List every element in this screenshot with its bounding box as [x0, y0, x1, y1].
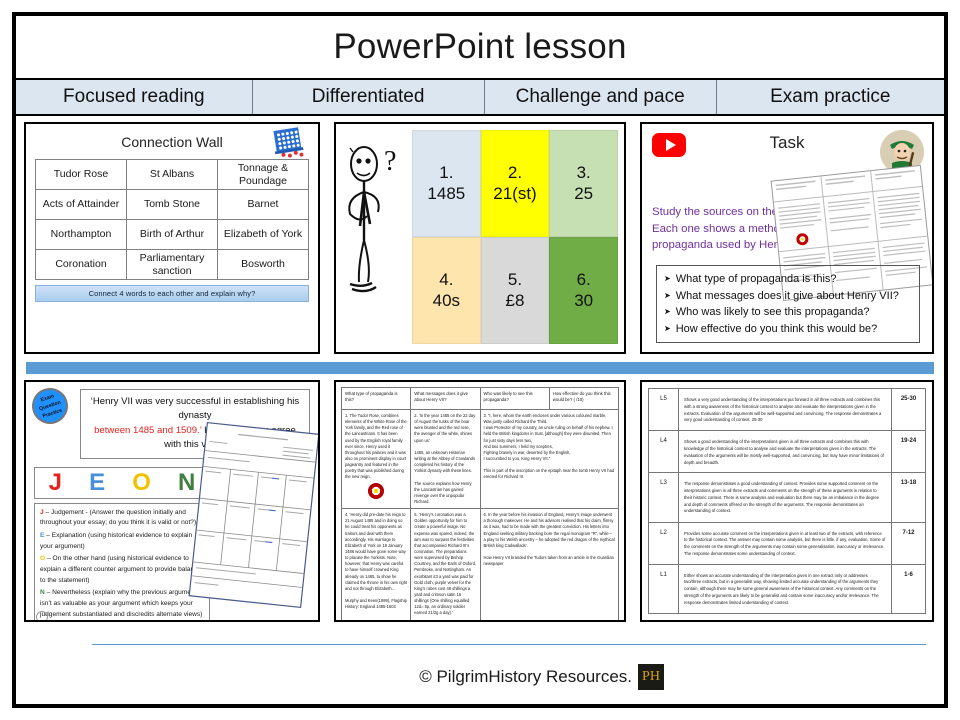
slide-frame: PowerPoint lesson Focused reading Differ…	[12, 12, 948, 708]
task-question: What messages does it give about Henry V…	[664, 288, 912, 305]
tab-exam-practice[interactable]: Exam practice	[717, 80, 944, 114]
source-header: How effective do you think this would be…	[549, 388, 618, 410]
panel-sources-table[interactable]: What type of propaganda is this? What me…	[334, 380, 626, 622]
source-cell-3: 3. “I, here, whom the earth encloses und…	[480, 410, 619, 509]
task-question: How effective do you think this would be…	[664, 321, 912, 338]
table-row: Coronation Parliamentary sanction Boswor…	[36, 250, 309, 280]
wall-cell[interactable]: Tonnage & Poundage	[218, 160, 309, 190]
jeon-explanations: J – Judgement - (Answer the question ini…	[34, 503, 210, 622]
mark-range: 13-18	[892, 473, 926, 522]
youtube-play-icon[interactable]	[652, 133, 686, 157]
grid-cell-3[interactable]: 3. 25	[549, 130, 618, 237]
jeon-point-text: – Judgement - (Answer the question initi…	[40, 509, 196, 527]
source-cell-4: 4. ‘Henry did pre-date his reign to 21 A…	[342, 509, 411, 622]
grid-cell-6[interactable]: 6. 30	[549, 237, 618, 344]
source-cell-6: 6. In the year before his invasion of En…	[480, 509, 619, 622]
source-cell-2: 2. ‘In the year 1485 on the 22 day of Au…	[411, 410, 480, 509]
jeon-letter-n: N	[178, 469, 195, 497]
jeon-letters: J E O N	[34, 467, 210, 499]
grid-cell-4[interactable]: 4. 40s	[412, 237, 481, 344]
source-cell-1: 1. The Tudor Rose, combines elements of …	[342, 410, 411, 509]
wall-cell[interactable]: Barnet	[218, 190, 309, 220]
level-description: Either shows an accurate understanding o…	[679, 564, 892, 613]
number-grid: 1. 1485 2. 21(st) 3. 25 4.	[412, 130, 618, 344]
wall-cell[interactable]: Tudor Rose	[36, 160, 127, 190]
wall-cell[interactable]: Acts of Attainder	[36, 190, 127, 220]
connection-wall-title: Connection Wall	[121, 134, 222, 150]
slide-footer: © PilgrimHistory Resources. PH	[16, 642, 944, 706]
table-row: L4 Shows a good understanding of the int…	[649, 431, 926, 473]
jeon-planning-sheet-thumbnail	[187, 420, 320, 609]
thumbnail-row-top: Connection Wall	[24, 122, 936, 354]
slide-body: Connection Wall	[16, 116, 944, 706]
level-label: L3	[649, 473, 679, 522]
wall-cell[interactable]: Bosworth	[218, 250, 309, 280]
panel-jeon[interactable]: Exam Question Practice ‘Henry VII was ve…	[24, 380, 320, 622]
tab-focused-reading[interactable]: Focused reading	[16, 80, 253, 114]
source-text: 1. The Tudor Rose, combines elements of …	[345, 413, 407, 479]
source-cell-5: 5. ‘Henry’s coronation was a Golden oppo…	[411, 509, 480, 622]
level-description: Shows a good understanding of the interp…	[679, 431, 892, 473]
title-bar: PowerPoint lesson	[16, 16, 944, 80]
pilgrim-history-logo: PH	[638, 664, 664, 690]
jeon-point-e: E – Explanation (using historical eviden…	[40, 531, 204, 552]
page-marker-icon	[36, 611, 48, 622]
mark-range: 25-30	[892, 389, 926, 431]
grid-cell-value: 21(st)	[493, 184, 536, 204]
panel-connection-wall[interactable]: Connection Wall	[24, 122, 320, 354]
markscheme-table: L5 Shows a very good understanding of th…	[648, 388, 926, 614]
exam-question-dates: between 1485 and 1509.’	[94, 425, 201, 436]
table-row: L1 Either shows an accurate understandin…	[649, 564, 926, 613]
level-label: L4	[649, 431, 679, 473]
level-description: Provides some accurate comment on the in…	[679, 522, 892, 564]
source-header: What messages does it give about Henry V…	[411, 388, 480, 410]
thumbnail-row-bottom: Exam Question Practice ‘Henry VII was ve…	[24, 380, 936, 622]
table-row: L3 The response demonstrates a good unde…	[649, 473, 926, 522]
table-row: Northampton Birth of Arthur Elizabeth of…	[36, 220, 309, 250]
tab-differentiated[interactable]: Differentiated	[253, 80, 485, 114]
jeon-point-j: J – Judgement - (Answer the question ini…	[40, 508, 204, 529]
wall-cell[interactable]: Parliamentary sanction	[127, 250, 218, 280]
grid-cell-number: 5.	[508, 270, 522, 290]
jeon-letter-j: J	[49, 469, 62, 497]
task-question: What type of propaganda is this?	[664, 271, 912, 288]
table-row: Acts of Attainder Tomb Stone Barnet	[36, 190, 309, 220]
thinking-stick-figure-icon: ?	[340, 130, 412, 344]
page-title: PowerPoint lesson	[333, 27, 626, 67]
jeon-point-o: O – On the other hand (using historical …	[40, 554, 204, 586]
panel-task[interactable]: Task Study the sources on the sheet.	[640, 122, 934, 354]
grid-cell-5[interactable]: 5. £8	[481, 237, 550, 344]
svg-text:?: ?	[384, 146, 396, 177]
task-question: Who was likely to see this propaganda?	[664, 304, 912, 321]
grid-cell-value: £8	[506, 291, 525, 311]
grid-cell-value: 1485	[427, 184, 465, 204]
level-label: L1	[649, 564, 679, 613]
panel-markscheme[interactable]: L5 Shows a very good understanding of th…	[640, 380, 934, 622]
exam-question-part1: ‘Henry VII was very successful in establ…	[91, 396, 299, 421]
grid-cell-number: 4.	[439, 270, 453, 290]
task-question-list: What type of propaganda is this? What me…	[656, 265, 920, 343]
level-description: Shows a very good understanding of the i…	[679, 389, 892, 431]
table-row: 1. The Tudor Rose, combines elements of …	[342, 410, 619, 509]
table-row: L5 Shows a very good understanding of th…	[649, 389, 926, 431]
source-header: What type of propaganda is this?	[342, 388, 411, 410]
grid-cell-value: 25	[574, 184, 593, 204]
mark-range: 19-24	[892, 431, 926, 473]
mark-range: 1-6	[892, 564, 926, 613]
connection-wall-table: Tudor Rose St Albans Tonnage & Poundage …	[35, 159, 309, 280]
grid-cell-value: 30	[574, 291, 593, 311]
grid-cell-1[interactable]: 1. 1485	[412, 130, 481, 237]
jeon-letter-e: E	[89, 469, 105, 497]
table-header-row: What type of propaganda is this? What me…	[342, 388, 619, 410]
sources-table: What type of propaganda is this? What me…	[341, 387, 619, 622]
connection-wall-header: Connection Wall	[35, 131, 309, 155]
table-row: Tudor Rose St Albans Tonnage & Poundage	[36, 160, 309, 190]
source-header: Who was likely to see this propaganda?	[480, 388, 549, 410]
jeon-point-text: – Explanation (using historical evidence…	[40, 532, 192, 550]
grid-cell-number: 2.	[508, 163, 522, 183]
jeon-point-n: N – Nevertheless (explain why the previo…	[40, 588, 204, 620]
wall-cell[interactable]: Birth of Arthur	[127, 220, 218, 250]
table-row: 4. ‘Henry did pre-date his reign to 21 A…	[342, 509, 619, 622]
wall-cell[interactable]: St Albans	[127, 160, 218, 190]
wall-cell[interactable]: Northampton	[36, 220, 127, 250]
jeon-letter-o: O	[132, 469, 151, 497]
level-label: L2	[649, 522, 679, 564]
grid-cell-number: 6.	[577, 270, 591, 290]
jeon-point-text: – Nevertheless (explain why the previous…	[40, 589, 202, 617]
panel-number-grid[interactable]: ? 1. 1485	[334, 122, 626, 354]
footer-rule	[92, 644, 926, 645]
copyright-credit: © PilgrimHistory Resources. PH	[419, 664, 664, 690]
wall-cell[interactable]: Coronation	[36, 250, 127, 280]
table-row: L2 Provides some accurate comment on the…	[649, 522, 926, 564]
grid-cell-number: 3.	[577, 163, 591, 183]
section-divider	[26, 362, 934, 374]
tudor-rose-icon	[368, 483, 384, 499]
level-description: The response demonstrates a good underst…	[679, 473, 892, 522]
copyright-text: © PilgrimHistory Resources.	[419, 667, 632, 687]
connection-wall-instruction: Connect 4 words to each other and explai…	[35, 285, 309, 302]
jeon-point-text: – On the other hand (using historical ev…	[40, 555, 201, 583]
exam-question-practice-badge: Exam Question Practice	[27, 383, 72, 428]
tab-challenge-and-pace[interactable]: Challenge and pace	[485, 80, 717, 114]
grid-cell-value: 40s	[433, 291, 460, 311]
tab-bar: Focused reading Differentiated Challenge…	[16, 80, 944, 116]
mark-range: 7-12	[892, 522, 926, 564]
wall-cell[interactable]: Elizabeth of York	[218, 220, 309, 250]
wall-cell[interactable]: Tomb Stone	[127, 190, 218, 220]
level-label: L5	[649, 389, 679, 431]
grid-cell-number: 1.	[439, 163, 453, 183]
connect-four-icon	[269, 125, 310, 162]
grid-cell-2[interactable]: 2. 21(st)	[481, 130, 550, 237]
